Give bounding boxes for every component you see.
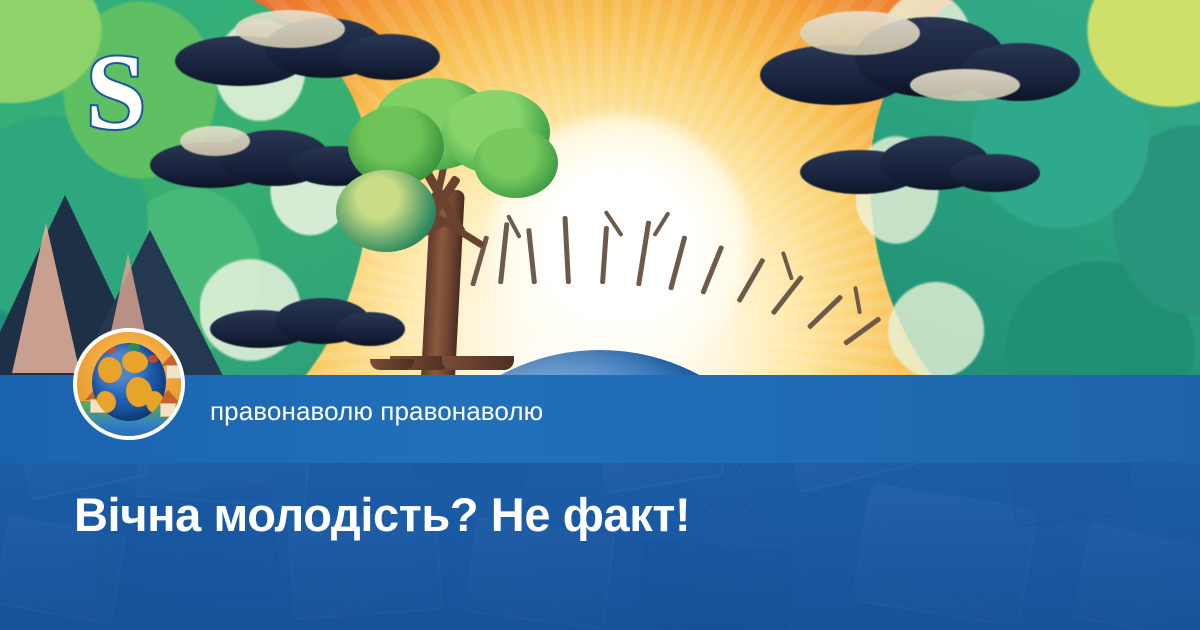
living-tree [330, 70, 560, 370]
storm-cloud-right [800, 128, 1040, 198]
channel-avatar[interactable] [73, 328, 185, 440]
channel-name[interactable]: правонаволю правонаволю [210, 396, 543, 427]
brand-s-logo-letter: S [86, 39, 146, 147]
avatar-globe [92, 343, 166, 421]
storm-cloud-top-right [760, 5, 1060, 125]
avatar-artwork [77, 332, 181, 436]
headline-title: Вічна молодість? Не факт! [74, 487, 690, 542]
screenshot-root: S [0, 0, 1200, 630]
brand-s-logo[interactable]: S [72, 38, 160, 148]
